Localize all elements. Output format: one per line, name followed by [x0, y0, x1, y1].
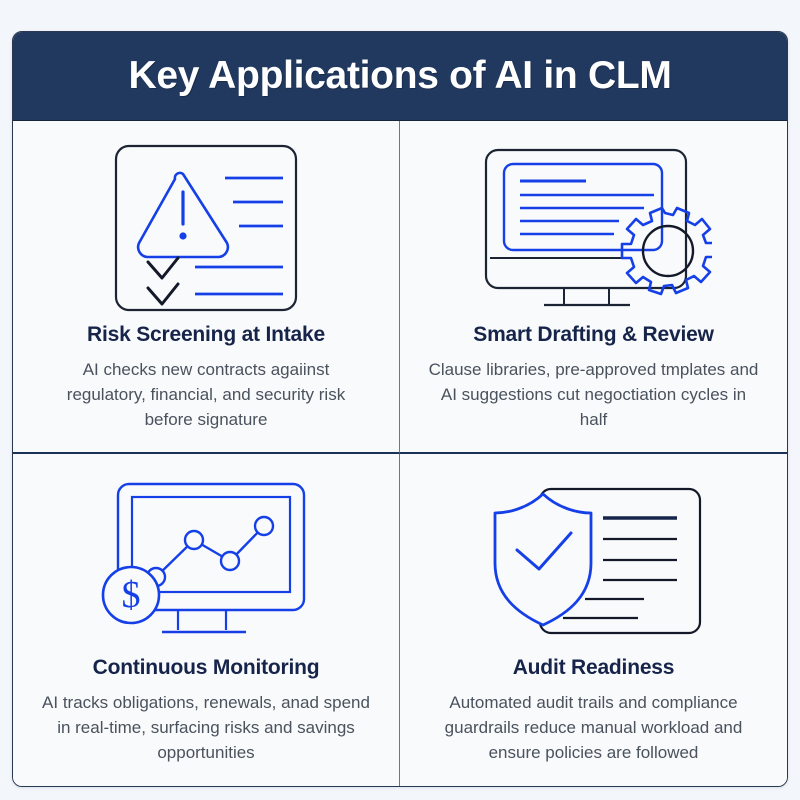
- shield-check-document-icon: [481, 477, 707, 645]
- quadrant-continuous-monitoring[interactable]: $ Continuous Monitoring AI tracks obliga…: [13, 454, 400, 787]
- icon-wrap-risk-screening: [35, 135, 377, 321]
- quadrant-title-smart-drafting: Smart Drafting & Review: [473, 323, 713, 347]
- quadrant-description-audit-readiness: Automated audit trails and compliance gu…: [429, 690, 759, 765]
- quadrant-audit-readiness[interactable]: Audit Readiness Automated audit trails a…: [400, 454, 787, 787]
- quadrant-smart-drafting[interactable]: Smart Drafting & Review Clause libraries…: [400, 121, 787, 454]
- card-header: Key Applications of AI in CLM: [13, 32, 787, 121]
- quadrant-title-audit-readiness: Audit Readiness: [513, 656, 675, 680]
- quadrant-risk-screening[interactable]: Risk Screening at Intake AI checks new c…: [13, 121, 400, 454]
- quadrant-description-smart-drafting: Clause libraries, pre-approved tmplates …: [429, 357, 759, 432]
- quadrant-description-continuous-monitoring: AI tracks obligations, renewals, anad sp…: [41, 690, 371, 765]
- svg-text:$: $: [122, 574, 141, 616]
- quadrant-description-risk-screening: AI checks new contracts agaiinst regulat…: [41, 357, 371, 432]
- monitor-document-gear-icon: [476, 142, 712, 314]
- monitor-line-chart-dollar-icon: $: [88, 478, 324, 644]
- quadrant-grid: Risk Screening at Intake AI checks new c…: [13, 121, 787, 787]
- icon-wrap-smart-drafting: [422, 135, 765, 321]
- infographic-card: Key Applications of AI in CLM: [12, 31, 788, 787]
- quadrant-title-continuous-monitoring: Continuous Monitoring: [93, 656, 320, 680]
- icon-wrap-audit-readiness: [422, 468, 765, 654]
- document-warning-checklist-icon: [113, 142, 299, 314]
- quadrant-title-risk-screening: Risk Screening at Intake: [87, 323, 325, 347]
- page-title: Key Applications of AI in CLM: [128, 54, 671, 98]
- icon-wrap-continuous-monitoring: $: [35, 468, 377, 654]
- dollar-badge-icon: $: [103, 567, 159, 623]
